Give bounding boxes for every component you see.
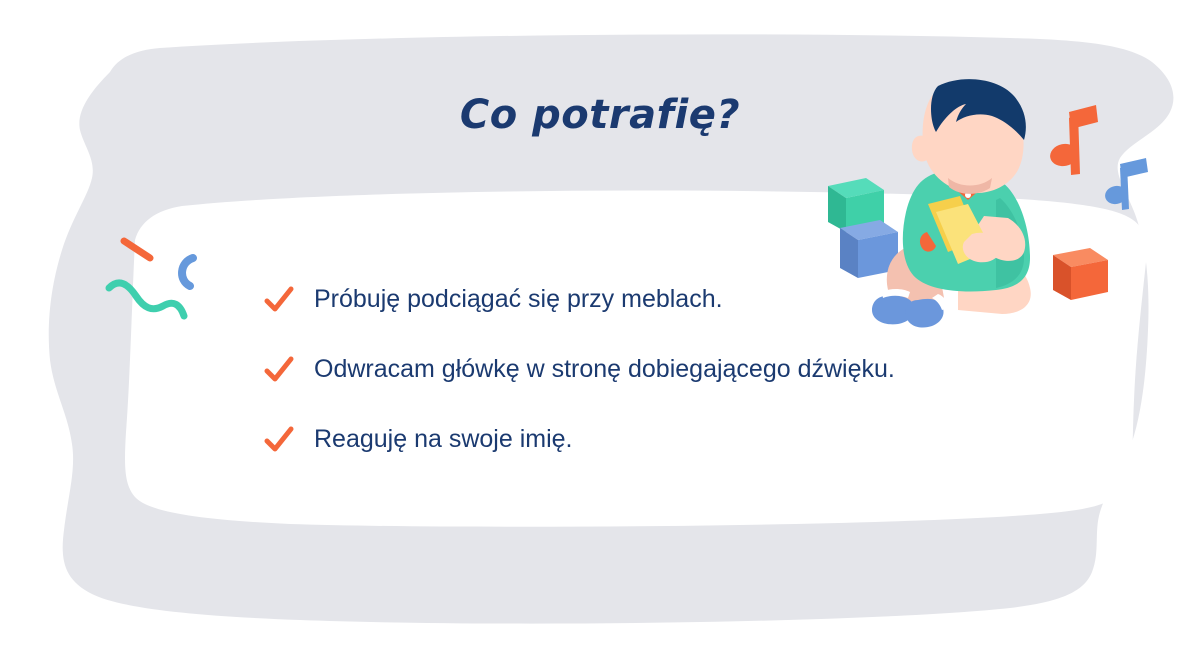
orange-dash-doodle <box>124 241 150 258</box>
check-mark-icon <box>262 423 296 457</box>
baby-arm <box>968 216 1025 261</box>
checklist: Próbuję podciągać się przy meblach. Odwr… <box>262 278 1082 488</box>
toy-block-blue <box>840 220 898 278</box>
list-item: Odwracam główkę w stronę dobiegającego d… <box>262 348 1082 392</box>
list-item-label: Reaguję na swoje imię. <box>314 426 572 454</box>
blue-arc-doodle <box>182 258 193 286</box>
toy-block-green <box>828 178 884 232</box>
baby-shirt <box>903 170 1030 292</box>
teal-squiggle-doodle <box>109 283 184 316</box>
baby-ear <box>912 136 927 162</box>
check-mark-icon <box>262 283 296 317</box>
check-mark-icon <box>262 353 296 387</box>
info-card: Co potrafię? Próbuję podciągać się przy … <box>0 0 1200 660</box>
list-item-label: Odwracam główkę w stronę dobiegającego d… <box>314 356 895 384</box>
toy-book <box>920 196 992 264</box>
list-item: Reaguję na swoje imię. <box>262 418 1082 462</box>
list-item: Próbuję podciągać się przy meblach. <box>262 278 1082 322</box>
music-note-blue-icon <box>1103 158 1148 210</box>
baby-hand <box>963 233 1000 263</box>
list-item-label: Próbuję podciągać się przy meblach. <box>314 286 723 314</box>
page-title: Co potrafię? <box>0 92 1200 138</box>
baby-collar <box>952 166 986 200</box>
